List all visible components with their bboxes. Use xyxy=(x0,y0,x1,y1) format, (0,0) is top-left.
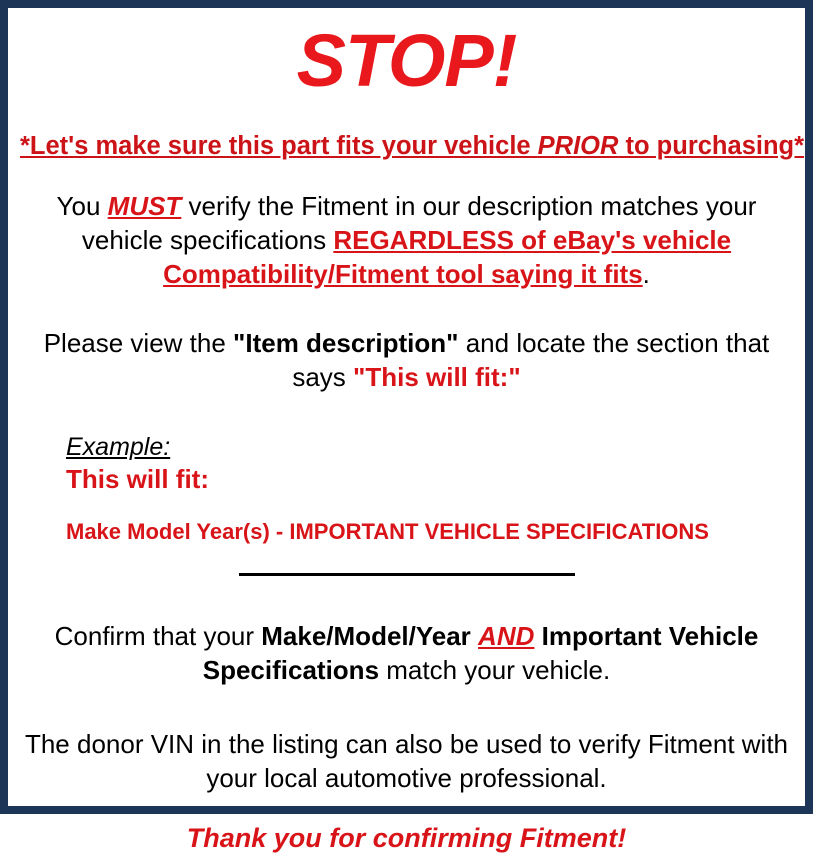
example-specification-line: Make Model Year(s) - IMPORTANT VEHICLE S… xyxy=(66,519,793,545)
and-emphasis: AND xyxy=(478,621,534,651)
confirm-seg-3 xyxy=(534,621,541,651)
paragraph-vin: The donor VIN in the listing can also be… xyxy=(20,728,793,796)
must-seg-3: . xyxy=(643,259,650,289)
example-block: Example: This will fit: Make Model Year(… xyxy=(20,433,793,545)
example-label: Example: xyxy=(66,433,793,462)
item-description-emphasis: "Item description" xyxy=(233,328,458,358)
fitment-notice-panel: STOP! *Let's make sure this part fits yo… xyxy=(0,0,813,814)
example-will-fit-heading: This will fit: xyxy=(66,464,793,495)
paragraph-must: You MUST verify the Fitment in our descr… xyxy=(20,190,793,291)
lede-part-1: *Let's make sure this part fits your veh… xyxy=(20,132,538,160)
lede-line: *Let's make sure this part fits your veh… xyxy=(20,132,793,160)
must-emphasis: MUST xyxy=(108,191,182,221)
thanks-line: Thank you for confirming Fitment! xyxy=(20,822,793,854)
make-model-year-emphasis: Make/Model/Year xyxy=(261,621,471,651)
lede-part-2: to purchasing* xyxy=(618,132,804,160)
section-divider xyxy=(239,573,575,576)
stop-title: STOP! xyxy=(20,24,793,98)
confirm-seg-1: Confirm that your xyxy=(55,621,262,651)
confirm-seg-2 xyxy=(471,621,478,651)
this-will-fit-emphasis: "This will fit:" xyxy=(353,362,521,392)
must-seg-1: You xyxy=(57,191,108,221)
lede-emphasis-prior: PRIOR xyxy=(538,132,619,160)
view-seg-1: Please view the xyxy=(44,328,233,358)
paragraph-view: Please view the "Item description" and l… xyxy=(20,327,793,395)
confirm-seg-4: match your vehicle. xyxy=(379,655,610,685)
paragraph-confirm: Confirm that your Make/Model/Year AND Im… xyxy=(20,620,793,688)
